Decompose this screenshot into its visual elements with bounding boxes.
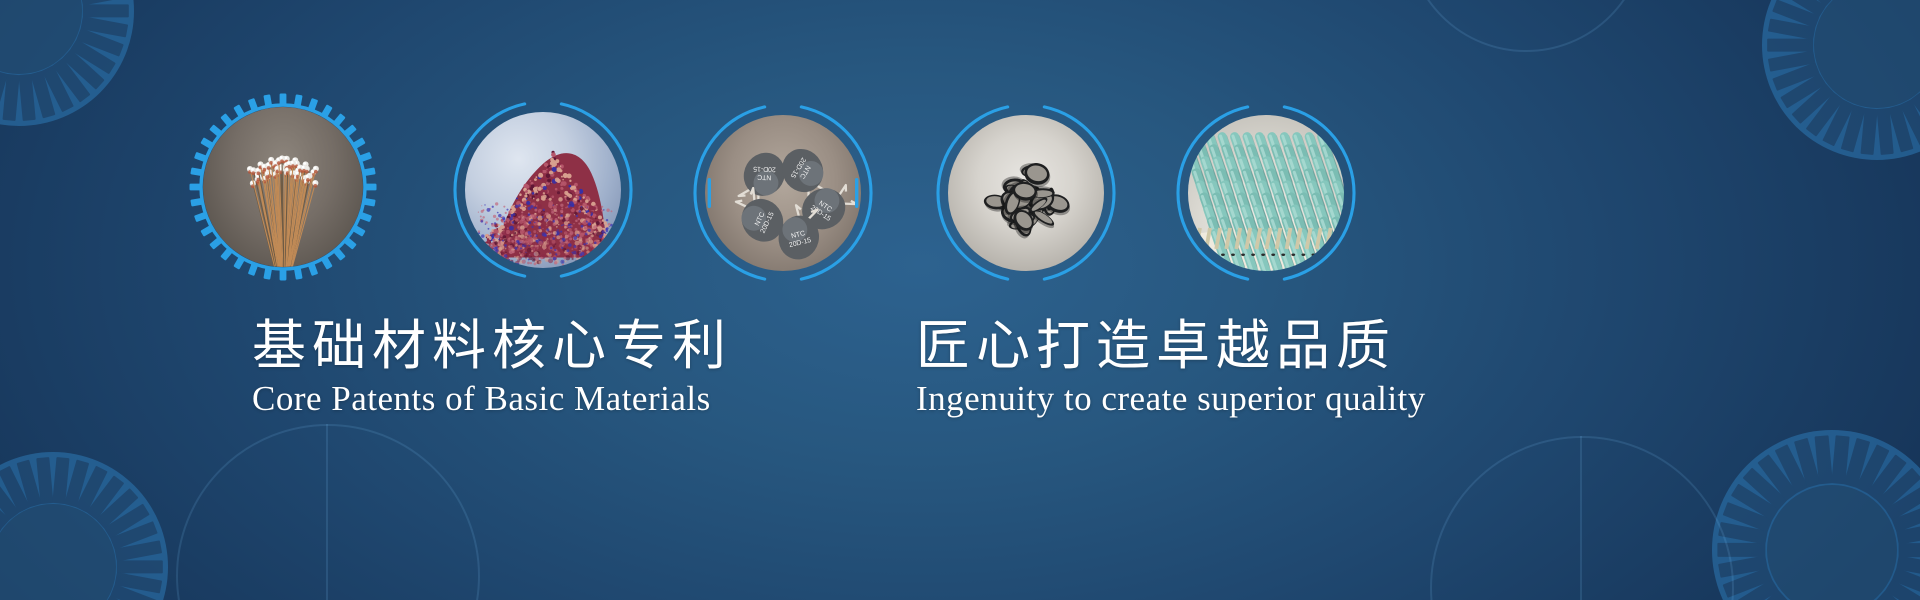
gear-rotor-icon: [1712, 430, 1920, 600]
headline-left-cn: 基础材料核心专利: [252, 318, 732, 374]
gear-rotor-icon: [0, 0, 134, 126]
headline-right-en: Ingenuity to create superior quality: [916, 380, 1426, 419]
product-circle-raw-powder[interactable]: [450, 97, 636, 283]
gear-rotor-icon: [1762, 0, 1920, 160]
faint-circle-decor-1: [176, 424, 480, 600]
headline-left: 基础材料核心专利 Core Patents of Basic Materials: [252, 318, 732, 419]
ring-decor-ntc-thermistors: [690, 100, 876, 286]
faint-circle-decor-3: [1406, 0, 1646, 52]
ring-decor-ceramic-discs: [933, 100, 1119, 286]
product-circle-ceramic-discs[interactable]: [933, 100, 1119, 286]
faint-line-decor-1: [326, 424, 328, 600]
ring-decor-coated-components: [1173, 100, 1359, 286]
headline-left-en: Core Patents of Basic Materials: [252, 380, 732, 419]
headline-right: 匠心打造卓越品质 Ingenuity to create superior qu…: [916, 318, 1426, 419]
product-circle-ntc-thermistors[interactable]: NTC20D-15NTC20D-15NTC20D-15NTC20D-15NTC2…: [690, 100, 876, 286]
ring-decor-raw-powder: [450, 97, 636, 283]
gear-rotor-icon: [0, 452, 168, 600]
product-circle-coated-components[interactable]: [1173, 100, 1359, 286]
faint-line-decor-2: [1580, 436, 1582, 600]
product-circle-lead-wires[interactable]: [188, 92, 378, 282]
faint-circle-decor-2: [1430, 436, 1734, 600]
headline-right-cn: 匠心打造卓越品质: [916, 318, 1426, 374]
product-banner: NTC20D-15NTC20D-15NTC20D-15NTC20D-15NTC2…: [0, 0, 1920, 600]
ring-decor-lead-wires: [188, 92, 378, 282]
